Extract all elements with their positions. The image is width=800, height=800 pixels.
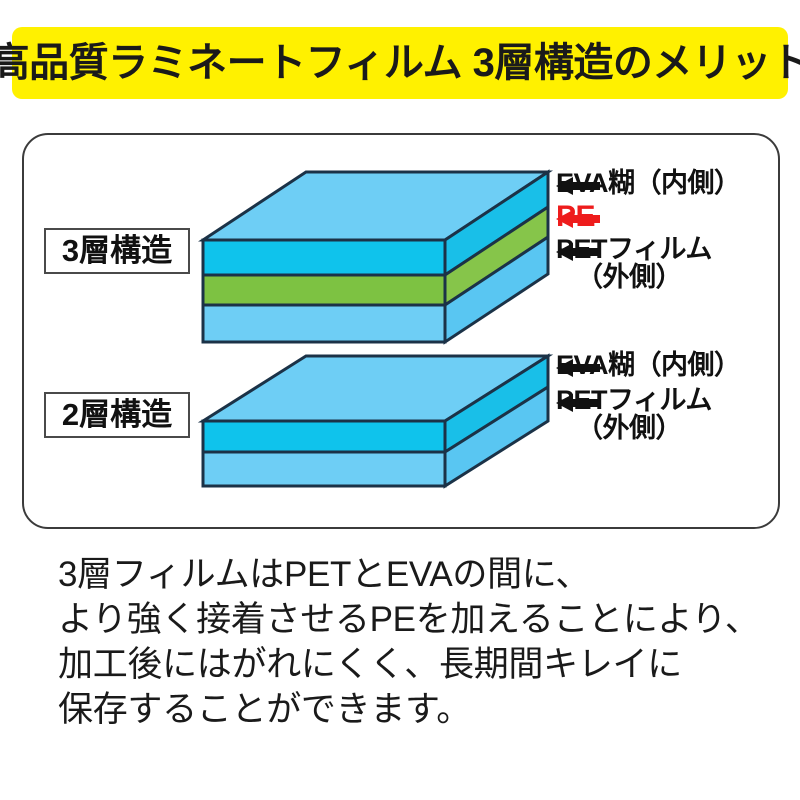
description-paragraph: 3層フィルムはPETとEVAの間に、 より強く接着させるPEを加えることにより、… <box>58 552 788 733</box>
callout-text-pe: PE <box>556 200 595 233</box>
label-box-three-layer: 3層構造 <box>44 228 190 274</box>
callout-two-layer-pet: PETフィルム （外側） <box>556 387 712 442</box>
callout-text-pet: PETフィルム <box>556 234 712 264</box>
description-line-3: 加工後にはがれにくく、長期間キレイに <box>58 642 788 687</box>
two-layer-front-pet <box>203 452 445 486</box>
callout-three-layer-pet: PETフィルム （外側） <box>556 236 712 291</box>
three-layer-front-pet <box>203 305 445 342</box>
callout-text-eva: EVA糊（内側） <box>556 168 741 198</box>
callout-text-pet-cont: （外側） <box>556 264 712 292</box>
label-two-layer: 2層構造 <box>62 399 172 430</box>
three-layer-block <box>203 172 548 342</box>
description-line-2: より強く接着させるPEを加えることにより、 <box>58 597 788 642</box>
three-layer-front-eva <box>203 240 445 275</box>
three-layer-front-pe <box>203 275 445 305</box>
callout-two-layer-eva: EVA糊（内側） <box>556 352 741 380</box>
description-line-1: 3層フィルムはPETとEVAの間に、 <box>58 552 788 597</box>
label-box-two-layer: 2層構造 <box>44 392 190 438</box>
callout-three-layer-pe: PE <box>556 202 595 233</box>
label-three-layer: 3層構造 <box>62 235 172 266</box>
callout-text-pet-2-cont: （外側） <box>556 415 712 443</box>
two-layer-block <box>203 356 548 486</box>
callout-three-layer-eva: EVA糊（内側） <box>556 170 741 198</box>
callout-text-eva-2: EVA糊（内側） <box>556 350 741 380</box>
callout-text-pet-2: PETフィルム <box>556 385 712 415</box>
two-layer-front-eva <box>203 421 445 452</box>
description-line-4: 保存することができます。 <box>58 687 788 732</box>
